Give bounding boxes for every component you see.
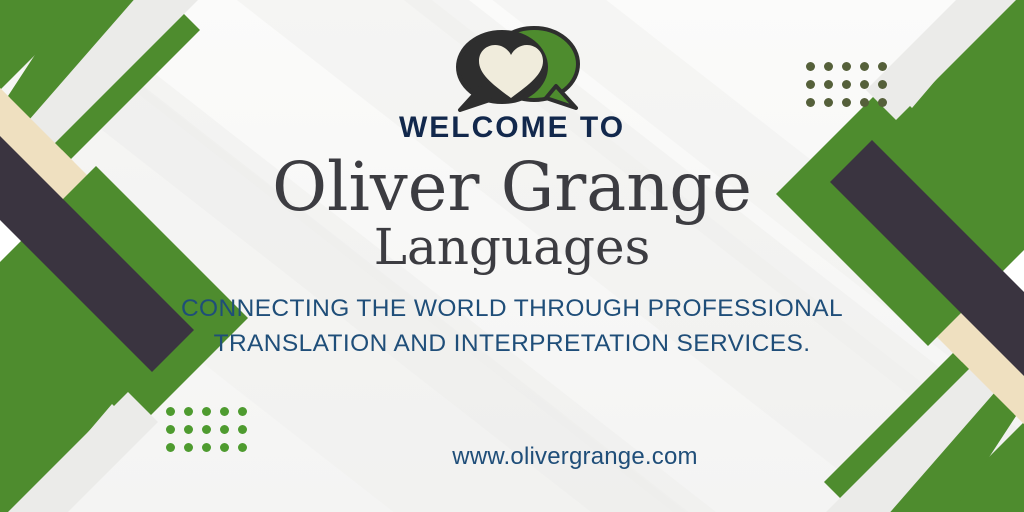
dot bbox=[238, 425, 247, 434]
logo-icon bbox=[452, 22, 584, 112]
dot bbox=[806, 98, 815, 107]
brand-name: Oliver Grange bbox=[0, 153, 1024, 223]
dot bbox=[878, 62, 887, 71]
dot bbox=[824, 80, 833, 89]
dot bbox=[878, 98, 887, 107]
dot bbox=[842, 98, 851, 107]
dot bbox=[860, 80, 869, 89]
dot bbox=[166, 425, 175, 434]
banner-root: WELCOME TO Oliver Grange Languages CONNE… bbox=[0, 0, 1024, 512]
dot bbox=[824, 98, 833, 107]
dot bbox=[238, 407, 247, 416]
headline-block: WELCOME TO Oliver Grange Languages CONNE… bbox=[0, 113, 1024, 362]
dot-grid-top-right bbox=[806, 62, 887, 107]
dot bbox=[166, 407, 175, 416]
dot bbox=[202, 425, 211, 434]
welcome-label: WELCOME TO bbox=[0, 113, 1024, 143]
dot bbox=[842, 62, 851, 71]
dot bbox=[824, 62, 833, 71]
brand-subtitle: Languages bbox=[0, 221, 1024, 274]
dot bbox=[184, 425, 193, 434]
dot bbox=[806, 62, 815, 71]
dot bbox=[806, 80, 815, 89]
dot bbox=[202, 407, 211, 416]
tagline: CONNECTING THE WORLD THROUGH PROFESSIONA… bbox=[0, 292, 1024, 362]
dot bbox=[878, 80, 887, 89]
speech-bubbles-heart-logo bbox=[452, 22, 584, 112]
dot bbox=[860, 98, 869, 107]
dot bbox=[860, 62, 869, 71]
dot bbox=[220, 407, 229, 416]
dot bbox=[842, 80, 851, 89]
website-url[interactable]: www.olivergrange.com bbox=[0, 443, 1024, 471]
dot bbox=[220, 425, 229, 434]
dot bbox=[184, 407, 193, 416]
